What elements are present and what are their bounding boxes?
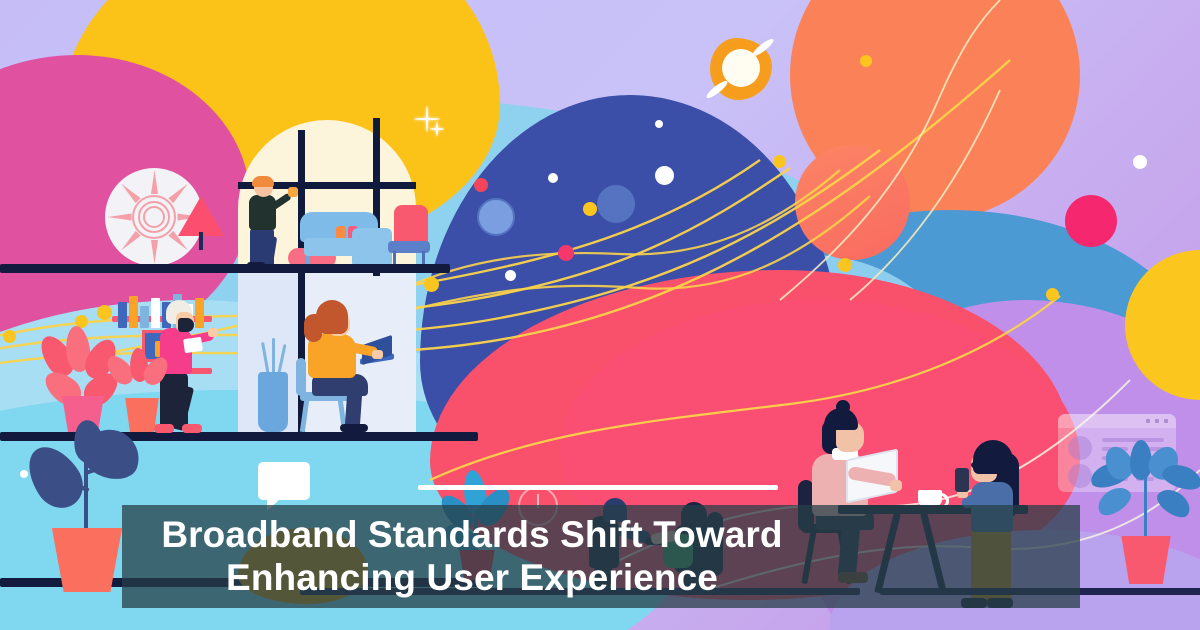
signal-dot [773, 155, 786, 168]
white-dot [505, 270, 516, 281]
pink-dot [558, 245, 574, 261]
signal-dot [838, 258, 852, 272]
sparkle-icon [430, 122, 444, 136]
blue-ring [477, 198, 515, 236]
cone-lamp [178, 196, 224, 244]
signal-dot [424, 277, 439, 292]
sun-icon [710, 38, 772, 100]
banner-image: Broadband Standards Shift Toward Enhanci… [0, 0, 1200, 630]
signal-dot [1046, 288, 1059, 301]
woman-laptop-window [294, 300, 390, 432]
red-dot [474, 178, 488, 192]
signal-dot [97, 305, 112, 320]
title-divider [418, 485, 778, 490]
signal-dot [583, 202, 597, 216]
speech-bubble-icon [258, 462, 310, 500]
ui-card-dot [1164, 419, 1168, 423]
white-dot [655, 120, 663, 128]
white-dot [548, 173, 558, 183]
potted-plant-right [1090, 440, 1200, 590]
white-dot [655, 166, 674, 185]
red-chair [388, 205, 430, 265]
avatar [1068, 436, 1092, 460]
page-title: Broadband Standards Shift Toward Enhanci… [122, 505, 822, 608]
ui-card-dot [1155, 419, 1159, 423]
man-standing [246, 178, 286, 266]
title-overlay: Broadband Standards Shift Toward Enhanci… [122, 505, 1080, 608]
signal-dot [860, 55, 872, 67]
avatar [1068, 464, 1092, 488]
white-dot [1133, 155, 1147, 169]
vase-with-reeds [258, 342, 288, 432]
signal-dot [3, 330, 16, 343]
ui-card-dot [1146, 419, 1150, 423]
shelf-line [0, 264, 450, 273]
blue-chair [352, 228, 392, 268]
blue-circle-small [597, 185, 635, 223]
